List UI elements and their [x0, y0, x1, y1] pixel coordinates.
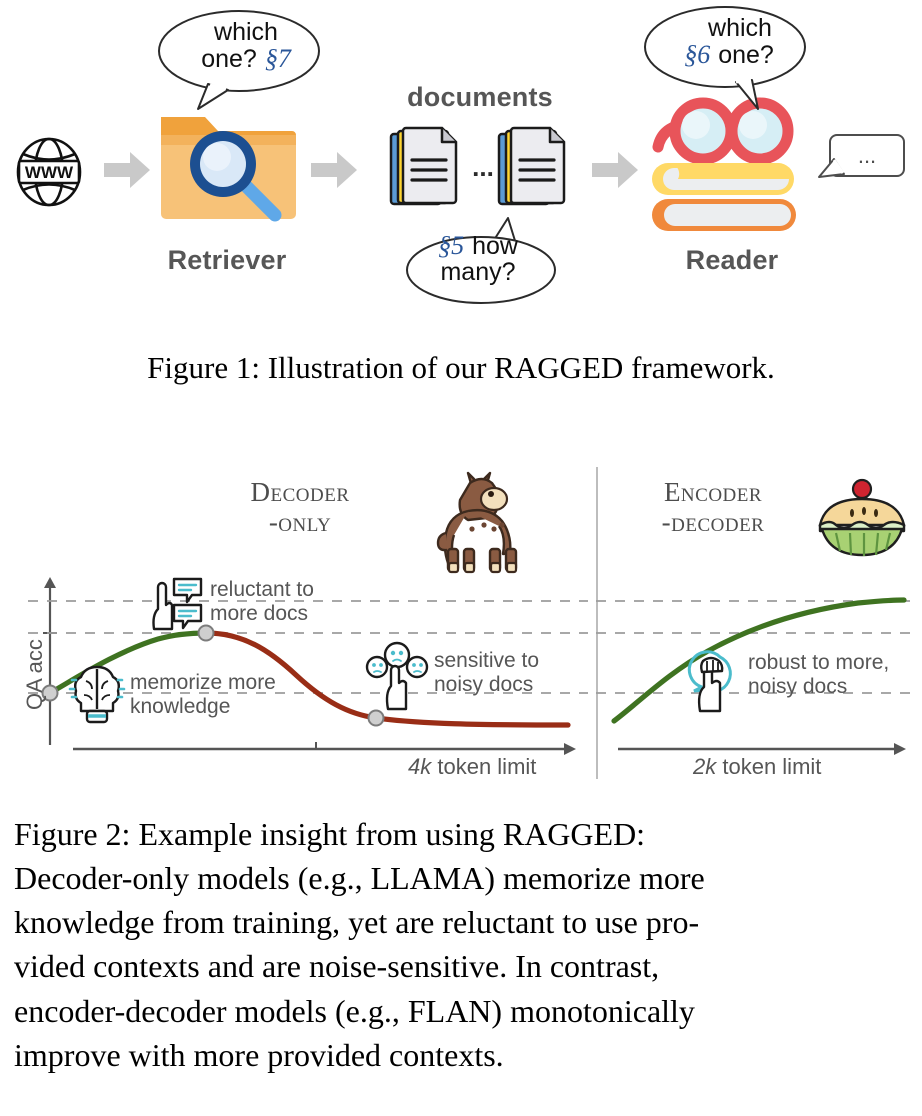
arrow-retriever-to-documents — [311, 152, 357, 188]
annotation-line-1: sensitive to — [434, 649, 539, 672]
bubble-line-1: how — [472, 232, 518, 260]
figure-1: WWW Retriever which — [0, 0, 922, 330]
caption-line: knowledge from training, yet are relucta… — [14, 900, 910, 944]
x-label-rest: token limit — [716, 754, 821, 779]
encoder-decoder-x-label: 2k token limit — [693, 754, 821, 780]
panel-title-line-1: Decoder — [251, 477, 350, 507]
documents-label: documents — [390, 82, 570, 113]
memorize-annotation: memorize more knowledge — [130, 671, 276, 718]
caption-line: Figure 2: Example insight from using RAG… — [14, 812, 910, 856]
bubble-line-1: which — [214, 18, 278, 46]
worried-faces-hand-icon — [366, 641, 428, 711]
x-label-emphasis: 4k — [408, 754, 431, 779]
brain-bulb-icon — [70, 663, 124, 725]
documents-question-text: §5how many? — [413, 232, 543, 286]
fist-shield-icon — [682, 645, 740, 713]
pie-icon — [812, 477, 912, 567]
annotation-line-2: knowledge — [130, 695, 230, 718]
annotation-line-1: reluctant to — [210, 578, 314, 601]
document-stack-1-icon — [390, 126, 462, 208]
hand-stop-chat-icon — [148, 575, 204, 633]
retriever-label: Retriever — [157, 245, 297, 276]
annotation-line-2: noisy docs — [748, 675, 847, 698]
robust-annotation: robust to more, noisy docs — [748, 651, 889, 698]
figure-2-caption: Figure 2: Example insight from using RAG… — [14, 812, 910, 1077]
documents-ellipsis: ... — [466, 152, 500, 183]
caption-line: vided contexts and are noise-sensitive. … — [14, 944, 910, 988]
llama-icon — [432, 467, 528, 577]
figure-1-caption: Figure 1: Illustration of our RAGGED fra… — [0, 348, 922, 389]
y-axis-label: QA acc — [22, 639, 48, 710]
x-label-emphasis: 2k — [693, 754, 716, 779]
retriever-icon — [157, 95, 297, 235]
www-globe-icon: WWW — [10, 133, 88, 211]
reader-output-text: ... — [858, 143, 876, 168]
panel-title-line-1: Encoder — [664, 477, 762, 507]
arrow-globe-to-retriever — [104, 152, 150, 188]
encoder-decoder-title: Encoder -decoder — [608, 477, 818, 537]
document-stack-2-icon — [498, 126, 570, 208]
figure-2: Decoder -only — [0, 455, 922, 795]
decoder-only-title: Decoder -only — [180, 477, 420, 537]
reader-question-text: which §6one? — [654, 15, 804, 69]
caption-line: encoder-decoder models (e.g., FLAN) mono… — [14, 989, 910, 1033]
annotation-line-1: memorize more — [130, 671, 276, 694]
annotation-line-1: robust to more, — [748, 651, 889, 674]
drop-marker — [369, 711, 384, 726]
bubble-line-2: one? — [718, 41, 774, 69]
retriever-question-text: which one?§7 — [166, 19, 326, 73]
panel-title-line-2: -decoder — [662, 507, 765, 537]
panel-divider — [596, 467, 598, 779]
arrow-documents-to-reader — [592, 152, 638, 188]
bubble-line-1: which — [708, 14, 772, 42]
reader-label: Reader — [648, 245, 816, 276]
section-ref-7: §7 — [265, 44, 291, 73]
caption-line: improve with more provided contexts. — [14, 1033, 910, 1077]
section-ref-5: §5 — [438, 231, 464, 260]
section-ref-6: §6 — [684, 40, 710, 69]
reader-output-bubble: ... — [818, 133, 906, 185]
caption-line: Decoder-only models (e.g., LLAMA) memori… — [14, 856, 910, 900]
x-label-rest: token limit — [431, 754, 536, 779]
annotation-line-2: more docs — [210, 602, 308, 625]
reluctant-annotation: reluctant to more docs — [210, 578, 314, 625]
panel-title-line-2: -only — [269, 507, 331, 537]
annotation-line-2: noisy docs — [434, 673, 533, 696]
bubble-line-2: many? — [440, 258, 515, 286]
www-text: WWW — [25, 163, 74, 182]
reader-icon — [648, 103, 816, 228]
sensitive-annotation: sensitive to noisy docs — [434, 649, 539, 696]
decoder-only-x-label: 4k token limit — [408, 754, 536, 780]
bubble-line-2: one? — [201, 45, 257, 73]
